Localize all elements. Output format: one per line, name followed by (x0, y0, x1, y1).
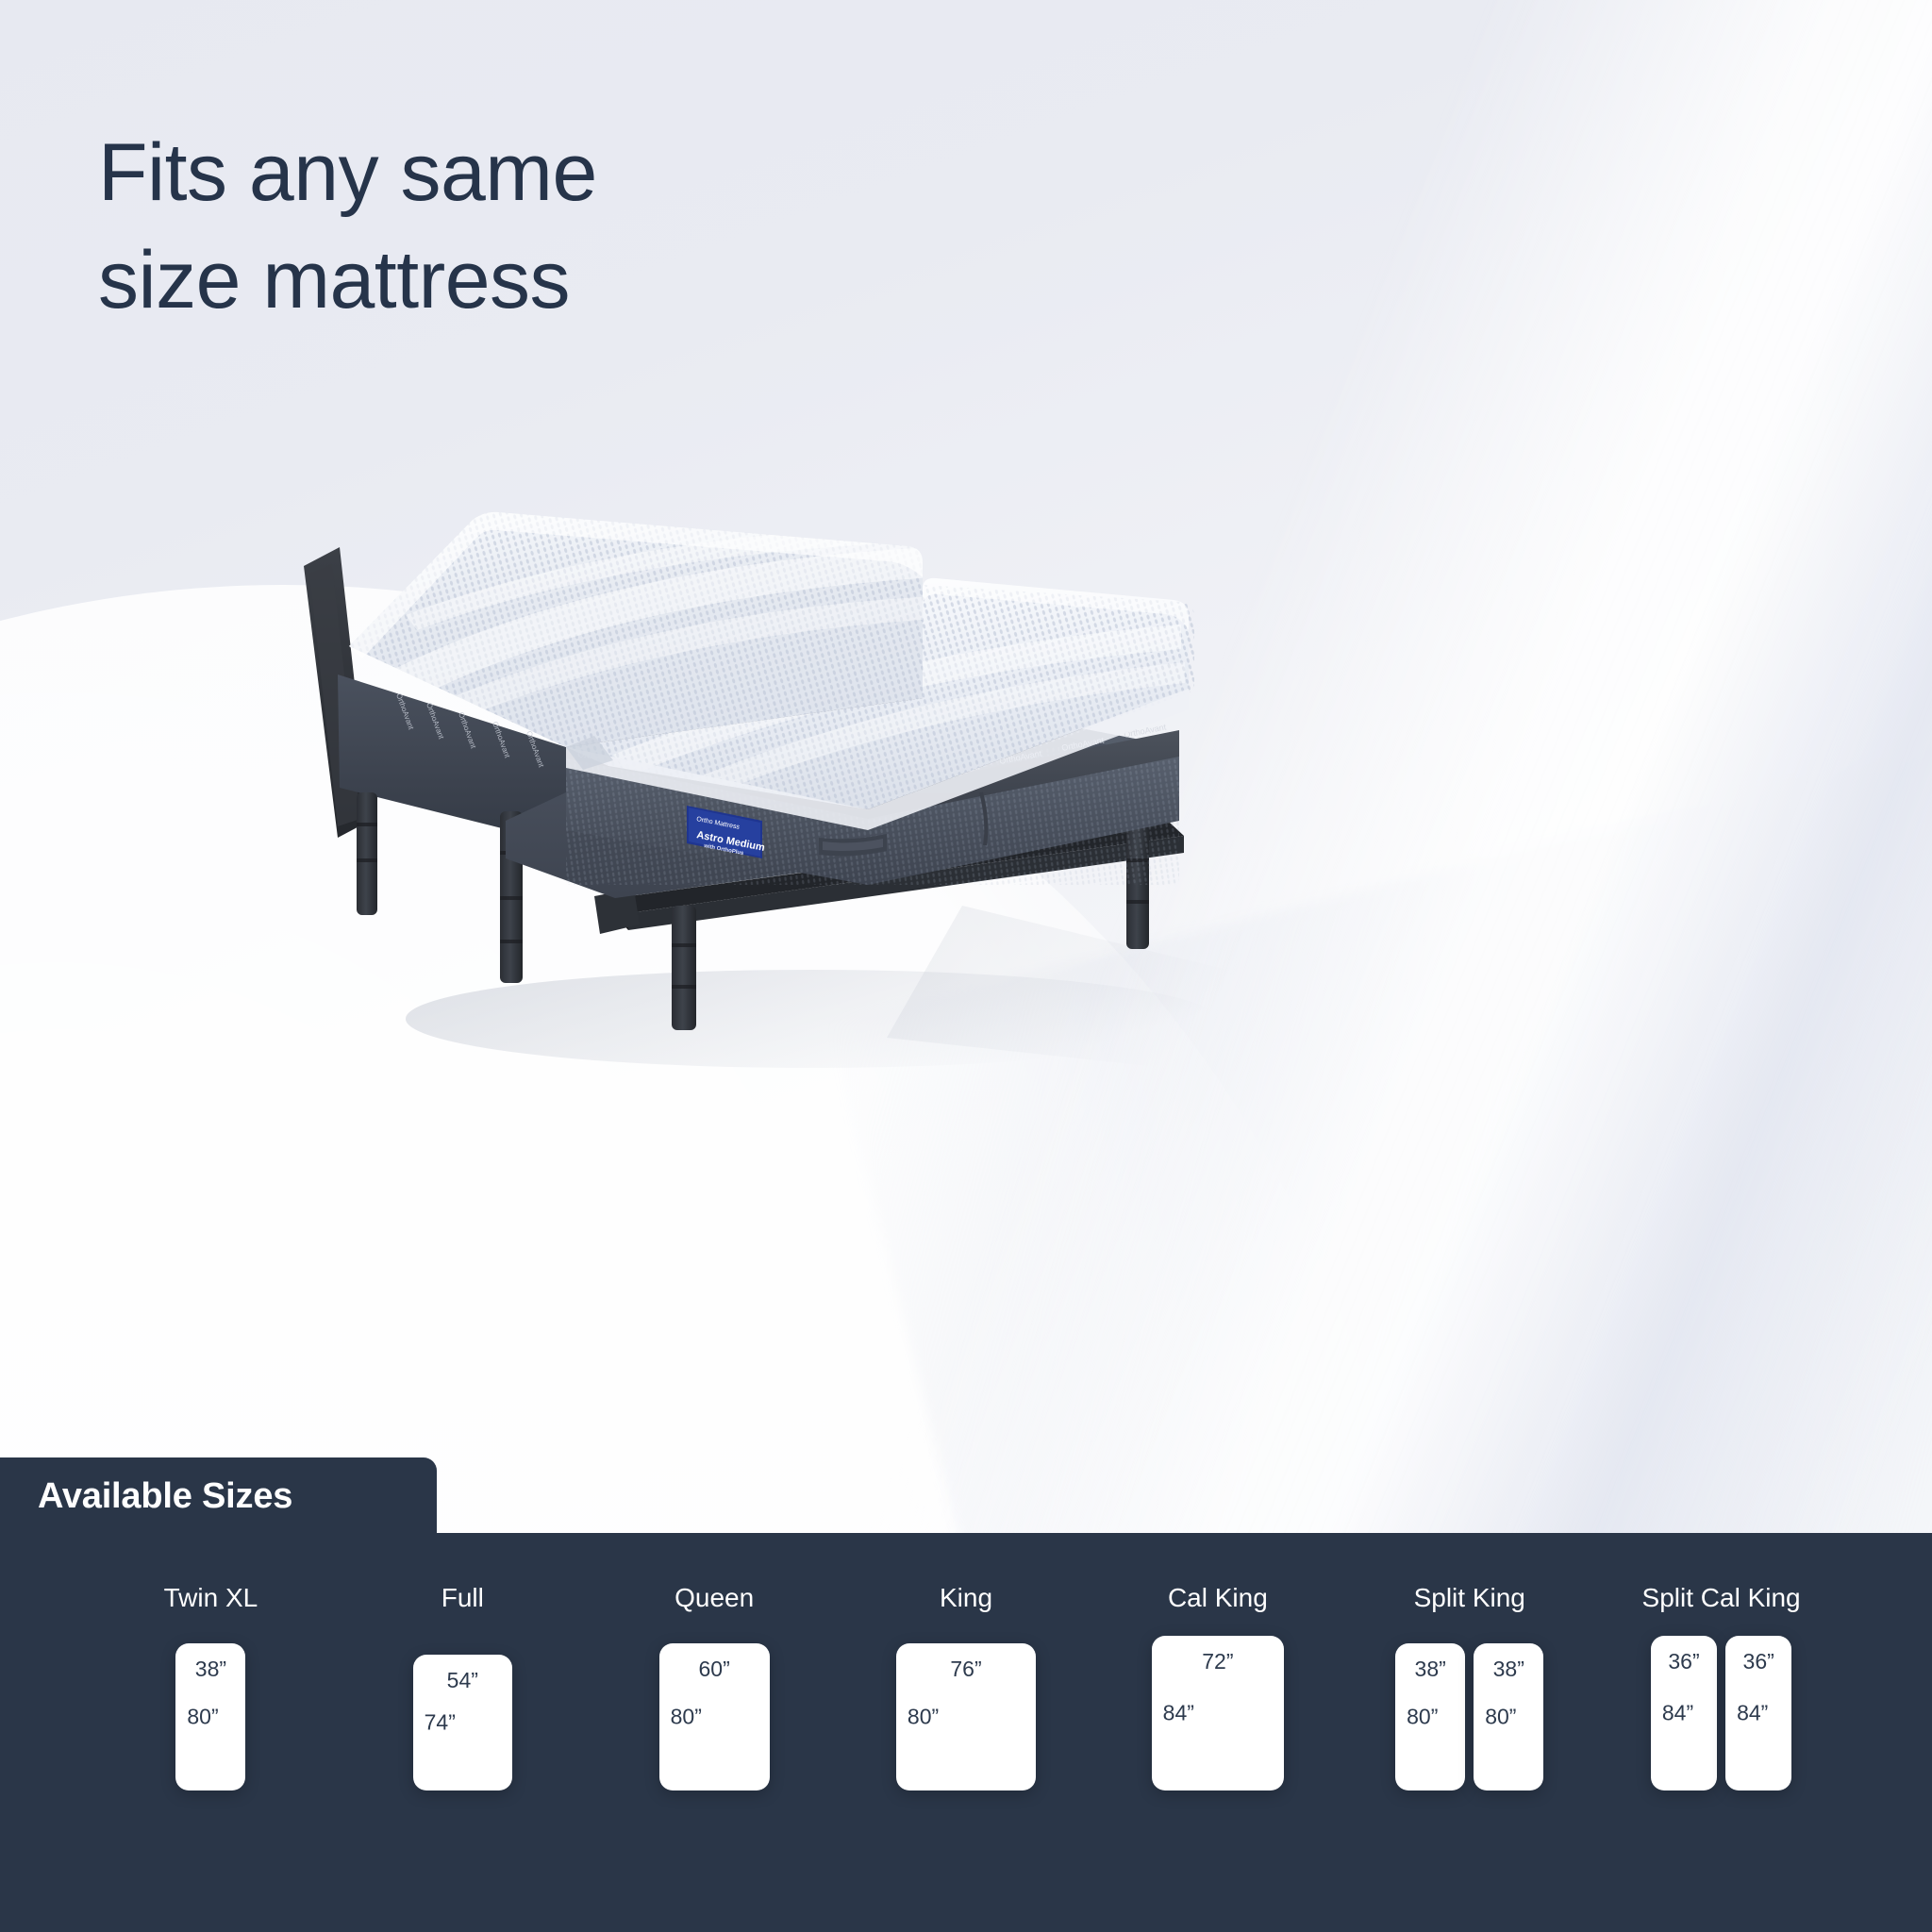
size-card[interactable]: 72”84” (1152, 1636, 1284, 1790)
adjustable-bed-illustration: OrthoAvant OrthoAvant OrthoAvant OrthoAv… (283, 415, 1236, 1075)
size-column: Split Cal King36”84”36”84” (1595, 1583, 1847, 1790)
size-card-width-label: 72” (1152, 1649, 1284, 1674)
size-name-label: Full (441, 1583, 484, 1613)
available-sizes-panel: Twin XL38”80”Full54”74”Queen60”80”King76… (0, 1533, 1932, 1932)
size-card[interactable]: 38”80” (175, 1643, 245, 1790)
size-name-label: King (940, 1583, 992, 1613)
size-card-height-label: 80” (1407, 1704, 1438, 1729)
size-card[interactable]: 76”80” (896, 1643, 1036, 1790)
page-title: Fits any same size mattress (98, 119, 597, 335)
size-card-group: 72”84” (1152, 1636, 1284, 1790)
size-card-group: 36”84”36”84” (1651, 1636, 1791, 1790)
size-card-group: 54”74” (413, 1636, 512, 1790)
available-sizes-tab-label: Available Sizes (38, 1476, 292, 1517)
size-card-height-label: 84” (1662, 1700, 1693, 1725)
size-card-width-label: 54” (413, 1668, 512, 1693)
size-column: Full54”74” (337, 1583, 589, 1790)
size-card-width-label: 36” (1725, 1649, 1791, 1674)
size-name-label: Twin XL (164, 1583, 258, 1613)
size-name-label: Cal King (1168, 1583, 1268, 1613)
size-card-width-label: 60” (659, 1657, 770, 1682)
size-card-width-label: 36” (1651, 1649, 1717, 1674)
size-card-width-label: 38” (1474, 1657, 1543, 1682)
size-card-width-label: 38” (175, 1657, 245, 1682)
size-name-label: Split Cal King (1642, 1583, 1801, 1613)
size-card-height-label: 80” (671, 1704, 702, 1729)
size-name-label: Queen (675, 1583, 754, 1613)
size-card[interactable]: 36”84” (1651, 1636, 1717, 1790)
size-card-width-label: 38” (1395, 1657, 1465, 1682)
size-column: Twin XL38”80” (85, 1583, 337, 1790)
size-card-group: 60”80” (659, 1636, 770, 1790)
size-name-label: Split King (1414, 1583, 1525, 1613)
size-card-group: 38”80”38”80” (1395, 1636, 1543, 1790)
size-column: Split King38”80”38”80” (1343, 1583, 1595, 1790)
size-card-group: 38”80” (175, 1636, 245, 1790)
size-card-height-label: 84” (1163, 1700, 1194, 1725)
size-card-height-label: 80” (187, 1704, 218, 1729)
size-card[interactable]: 54”74” (413, 1655, 512, 1790)
size-column: Queen60”80” (589, 1583, 841, 1790)
size-card-group: 76”80” (896, 1636, 1036, 1790)
infographic-canvas: Fits any same size mattress (0, 0, 1932, 1932)
size-card-height-label: 80” (1485, 1704, 1516, 1729)
size-column: Cal King72”84” (1091, 1583, 1343, 1790)
size-card[interactable]: 60”80” (659, 1643, 770, 1790)
size-card[interactable]: 36”84” (1725, 1636, 1791, 1790)
size-list: Twin XL38”80”Full54”74”Queen60”80”King76… (0, 1533, 1932, 1932)
size-card-width-label: 76” (896, 1657, 1036, 1682)
size-card[interactable]: 38”80” (1474, 1643, 1543, 1790)
size-card[interactable]: 38”80” (1395, 1643, 1465, 1790)
available-sizes-tab: Available Sizes (0, 1457, 437, 1535)
size-column: King76”80” (841, 1583, 1092, 1790)
size-card-height-label: 80” (908, 1704, 939, 1729)
size-card-height-label: 74” (425, 1709, 456, 1735)
size-card-height-label: 84” (1737, 1700, 1768, 1725)
